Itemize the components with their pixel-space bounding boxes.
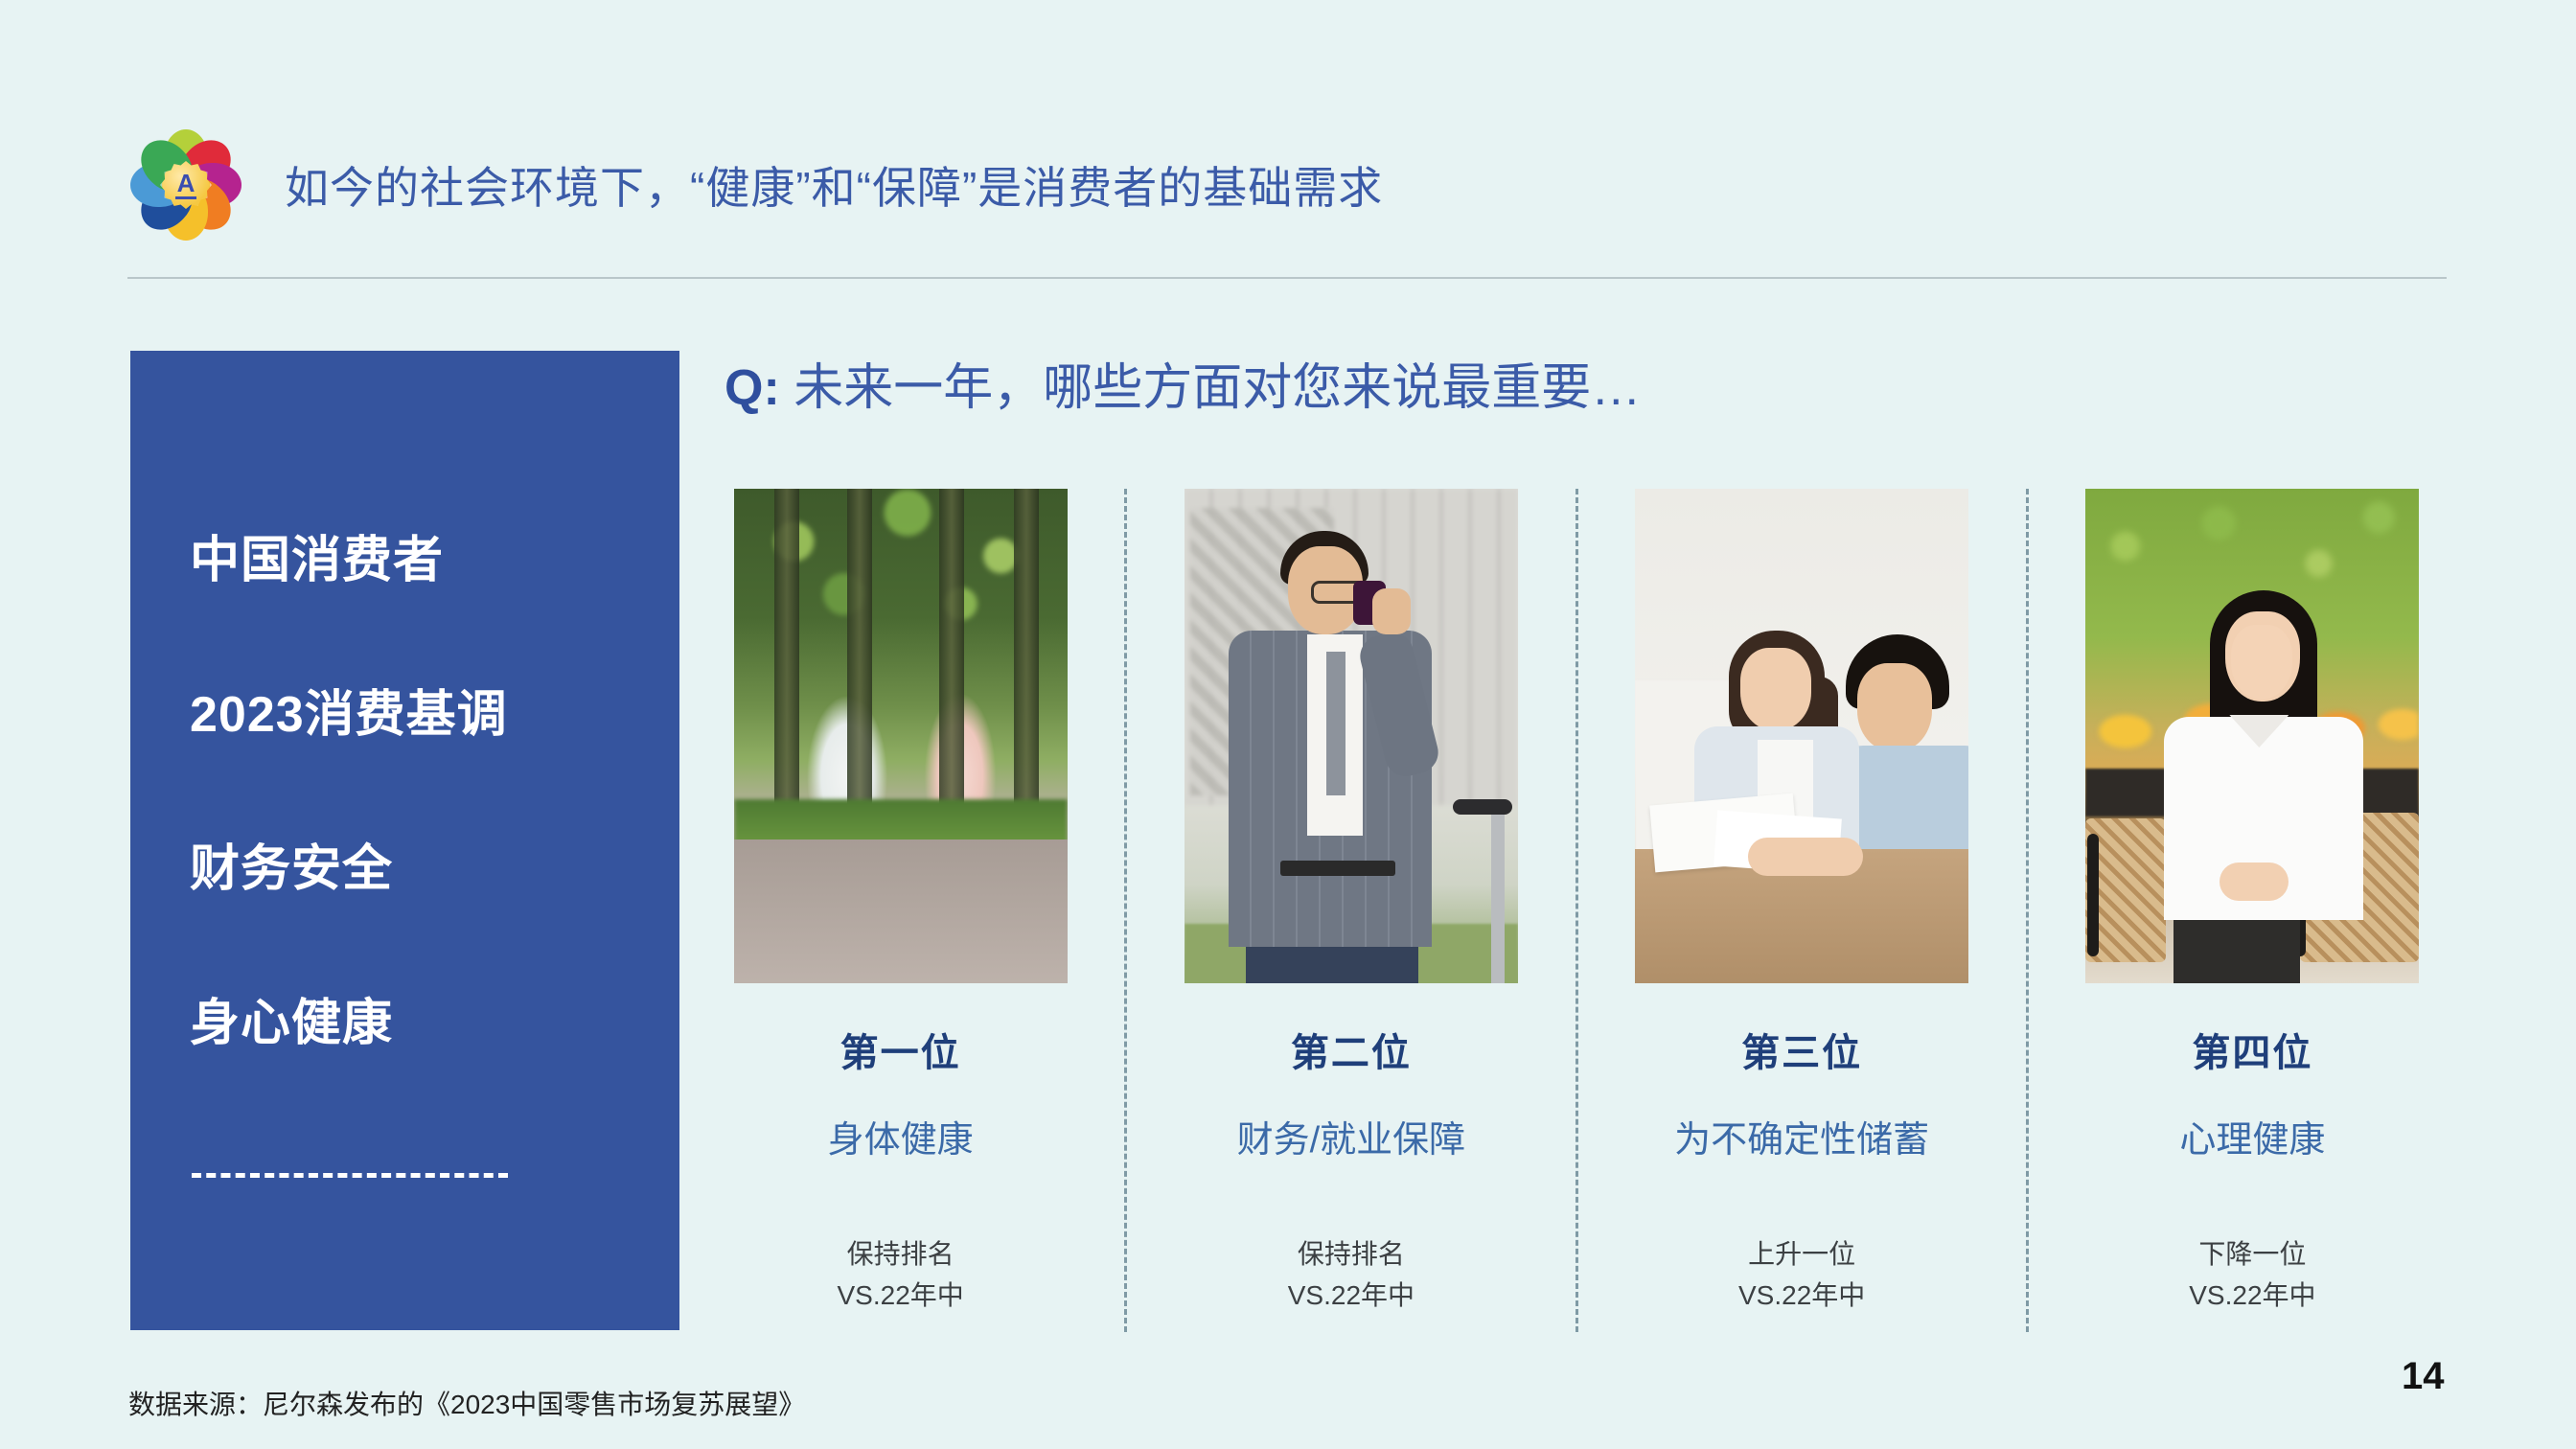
change-label: 保持排名 xyxy=(837,1233,963,1275)
header-divider xyxy=(127,277,2447,279)
ranking-card-row: 第一位 身体健康 保持排名 VS.22年中 第二位 财务/就业保障 xyxy=(709,489,2444,1332)
comparison-label: VS.22年中 xyxy=(2189,1275,2315,1316)
page-number: 14 xyxy=(2402,1355,2445,1398)
topic-label: 财务/就业保障 xyxy=(1237,1110,1466,1162)
sidebar-item-2023-tone: 2023消费基调 xyxy=(190,674,651,746)
change-label: 保持排名 xyxy=(1288,1233,1414,1275)
photo-elderly-couple-jogging xyxy=(734,489,1068,983)
card-divider xyxy=(1575,489,1578,1332)
logo-underline xyxy=(175,196,196,199)
photo-couple-reviewing-documents xyxy=(1635,489,1968,983)
page-title: 如今的社会环境下，“健康”和“保障”是消费者的基础需求 xyxy=(285,153,1383,217)
rank-label: 第三位 xyxy=(1741,1022,1862,1077)
question-prefix: Q: xyxy=(724,360,780,416)
source-footnote: 数据来源：尼尔森发布的《2023中国零售市场复苏展望》 xyxy=(128,1384,805,1422)
topic-label: 心理健康 xyxy=(2179,1110,2325,1162)
photo-businessman-on-phone xyxy=(1184,489,1518,983)
slide-header: A 如今的社会环境下，“健康”和“保障”是消费者的基础需求 xyxy=(127,123,2447,247)
ranking-card-2: 第二位 财务/就业保障 保持排名 VS.22年中 xyxy=(1160,489,1542,1332)
change-note: 下降一位 VS.22年中 xyxy=(2189,1233,2315,1317)
comparison-label: VS.22年中 xyxy=(837,1275,963,1316)
comparison-label: VS.22年中 xyxy=(1738,1275,1865,1316)
card-divider xyxy=(2026,489,2029,1332)
topic-label: 为不确定性储蓄 xyxy=(1674,1110,1929,1162)
card-divider xyxy=(1124,489,1127,1332)
change-note: 保持排名 VS.22年中 xyxy=(1288,1233,1414,1317)
change-note: 上升一位 VS.22年中 xyxy=(1738,1233,1865,1317)
sidebar-dashed-rule xyxy=(192,1173,508,1178)
change-label: 下降一位 xyxy=(2189,1233,2315,1275)
flower-petal-logo-icon: A xyxy=(127,126,244,243)
comparison-label: VS.22年中 xyxy=(1288,1275,1414,1316)
photo-woman-in-rattan-chair xyxy=(2085,489,2419,983)
sidebar-item-consumers: 中国消费者 xyxy=(190,519,651,591)
change-label: 上升一位 xyxy=(1738,1233,1865,1275)
sidebar-item-mind-body-health: 身心健康 xyxy=(190,982,651,1054)
rank-label: 第一位 xyxy=(840,1022,961,1077)
question-text: 未来一年，哪些方面对您来说最重要… xyxy=(793,360,1641,416)
sidebar-label-group: 中国消费者 2023消费基调 财务安全 身心健康 xyxy=(190,519,651,1054)
rank-label: 第二位 xyxy=(1291,1022,1412,1077)
slide-canvas: A 如今的社会环境下，“健康”和“保障”是消费者的基础需求 中国消费者 2023… xyxy=(0,0,2576,1449)
rank-label: 第四位 xyxy=(2192,1022,2312,1077)
ranking-card-1: 第一位 身体健康 保持排名 VS.22年中 xyxy=(709,489,1092,1332)
change-note: 保持排名 VS.22年中 xyxy=(837,1233,963,1317)
sidebar-item-financial-security: 财务安全 xyxy=(190,828,651,900)
sidebar-panel: 中国消费者 2023消费基调 财务安全 身心健康 xyxy=(130,351,679,1330)
ranking-card-4: 第四位 心理健康 下降一位 VS.22年中 xyxy=(2061,489,2444,1332)
topic-label: 身体健康 xyxy=(828,1110,974,1162)
ranking-card-3: 第三位 为不确定性储蓄 上升一位 VS.22年中 xyxy=(1611,489,1993,1332)
question-heading: Q: 未来一年，哪些方面对您来说最重要… xyxy=(724,347,1641,419)
